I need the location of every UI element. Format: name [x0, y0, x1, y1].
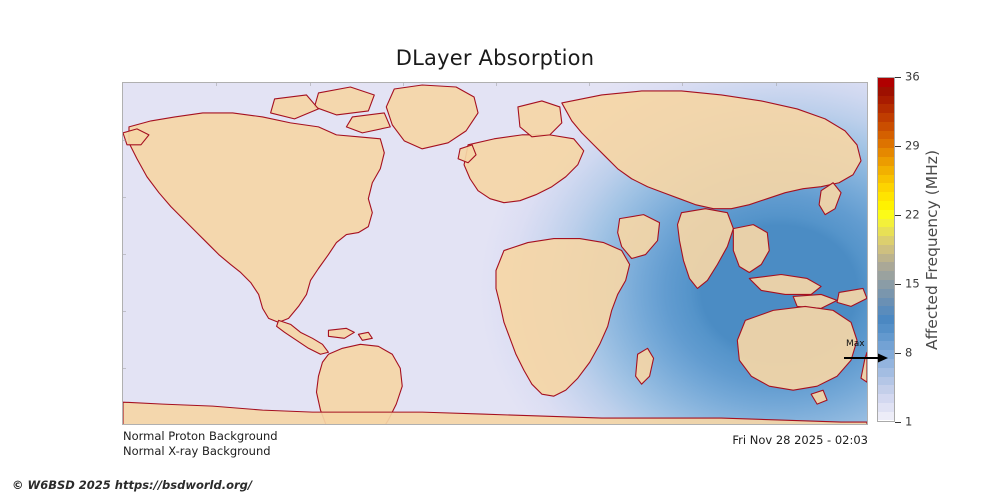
colorbar-segment [878, 113, 894, 122]
colorbar-tick-label: 1 [905, 417, 912, 429]
colorbar-tick-label: 29 [905, 141, 920, 153]
tick-dash-icon [895, 422, 901, 423]
colorbar-segment [878, 104, 894, 113]
colorbar-segment [878, 271, 894, 280]
colorbar-gradient [877, 77, 895, 422]
colorbar-segment [878, 148, 894, 157]
colorbar-segment [878, 245, 894, 254]
colorbar-tick-label: 36 [905, 72, 920, 84]
colorbar-tick-label: 8 [905, 348, 912, 360]
status-notes: Normal Proton Background Normal X-ray Ba… [123, 429, 278, 459]
colorbar-segment [878, 403, 894, 412]
colorbar-segment [878, 201, 894, 210]
colorbar-segment [878, 78, 894, 87]
credit-line: © W6BSD 2025 https://bsdworld.org/ [12, 478, 252, 492]
colorbar-segment [878, 227, 894, 236]
colorbar-segment [878, 157, 894, 166]
colorbar-segment [878, 210, 894, 219]
colorbar-axis-label: Affected Frequency (MHz) [921, 77, 943, 422]
colorbar-segment [878, 315, 894, 324]
colorbar-segment [878, 166, 894, 175]
colorbar-segment [878, 324, 894, 333]
colorbar-segment [878, 96, 894, 105]
colorbar-tick-label: 15 [905, 279, 920, 291]
colorbar-segment [878, 236, 894, 245]
tick-dash-icon [895, 353, 901, 354]
tick-dash-icon [895, 77, 901, 78]
colorbar-segment [878, 175, 894, 184]
colorbar-segment [878, 298, 894, 307]
colorbar-segment [878, 306, 894, 315]
colorbar-segment [878, 122, 894, 131]
colorbar-segment [878, 183, 894, 192]
colorbar-segment [878, 219, 894, 228]
colorbar[interactable] [877, 77, 895, 422]
colorbar-segment [878, 368, 894, 377]
colorbar-segment [878, 280, 894, 289]
world-map-panel[interactable] [122, 82, 868, 425]
colorbar-segment [878, 254, 894, 263]
xray-background-status: Normal X-ray Background [123, 444, 278, 459]
colorbar-segment [878, 87, 894, 96]
colorbar-segment [878, 289, 894, 298]
timestamp: Fri Nov 28 2025 - 02:03 [568, 433, 868, 447]
colorbar-tick-label: 22 [905, 210, 920, 222]
tick-dash-icon [895, 146, 901, 147]
page-title: DLayer Absorption [0, 46, 990, 70]
max-marker: Max [844, 340, 890, 366]
colorbar-segment [878, 412, 894, 421]
proton-background-status: Normal Proton Background [123, 429, 278, 444]
colorbar-segment [878, 262, 894, 271]
colorbar-segment [878, 394, 894, 403]
colorbar-segment [878, 377, 894, 386]
colorbar-segment [878, 192, 894, 201]
max-marker-label: Max [846, 340, 865, 349]
colorbar-segment [878, 131, 894, 140]
colorbar-axis-label-text: Affected Frequency (MHz) [923, 150, 941, 350]
coastline-layer [123, 83, 867, 425]
arrow-right-icon [844, 353, 888, 363]
tick-dash-icon [895, 284, 901, 285]
colorbar-segment [878, 385, 894, 394]
colorbar-segment [878, 139, 894, 148]
tick-dash-icon [895, 215, 901, 216]
